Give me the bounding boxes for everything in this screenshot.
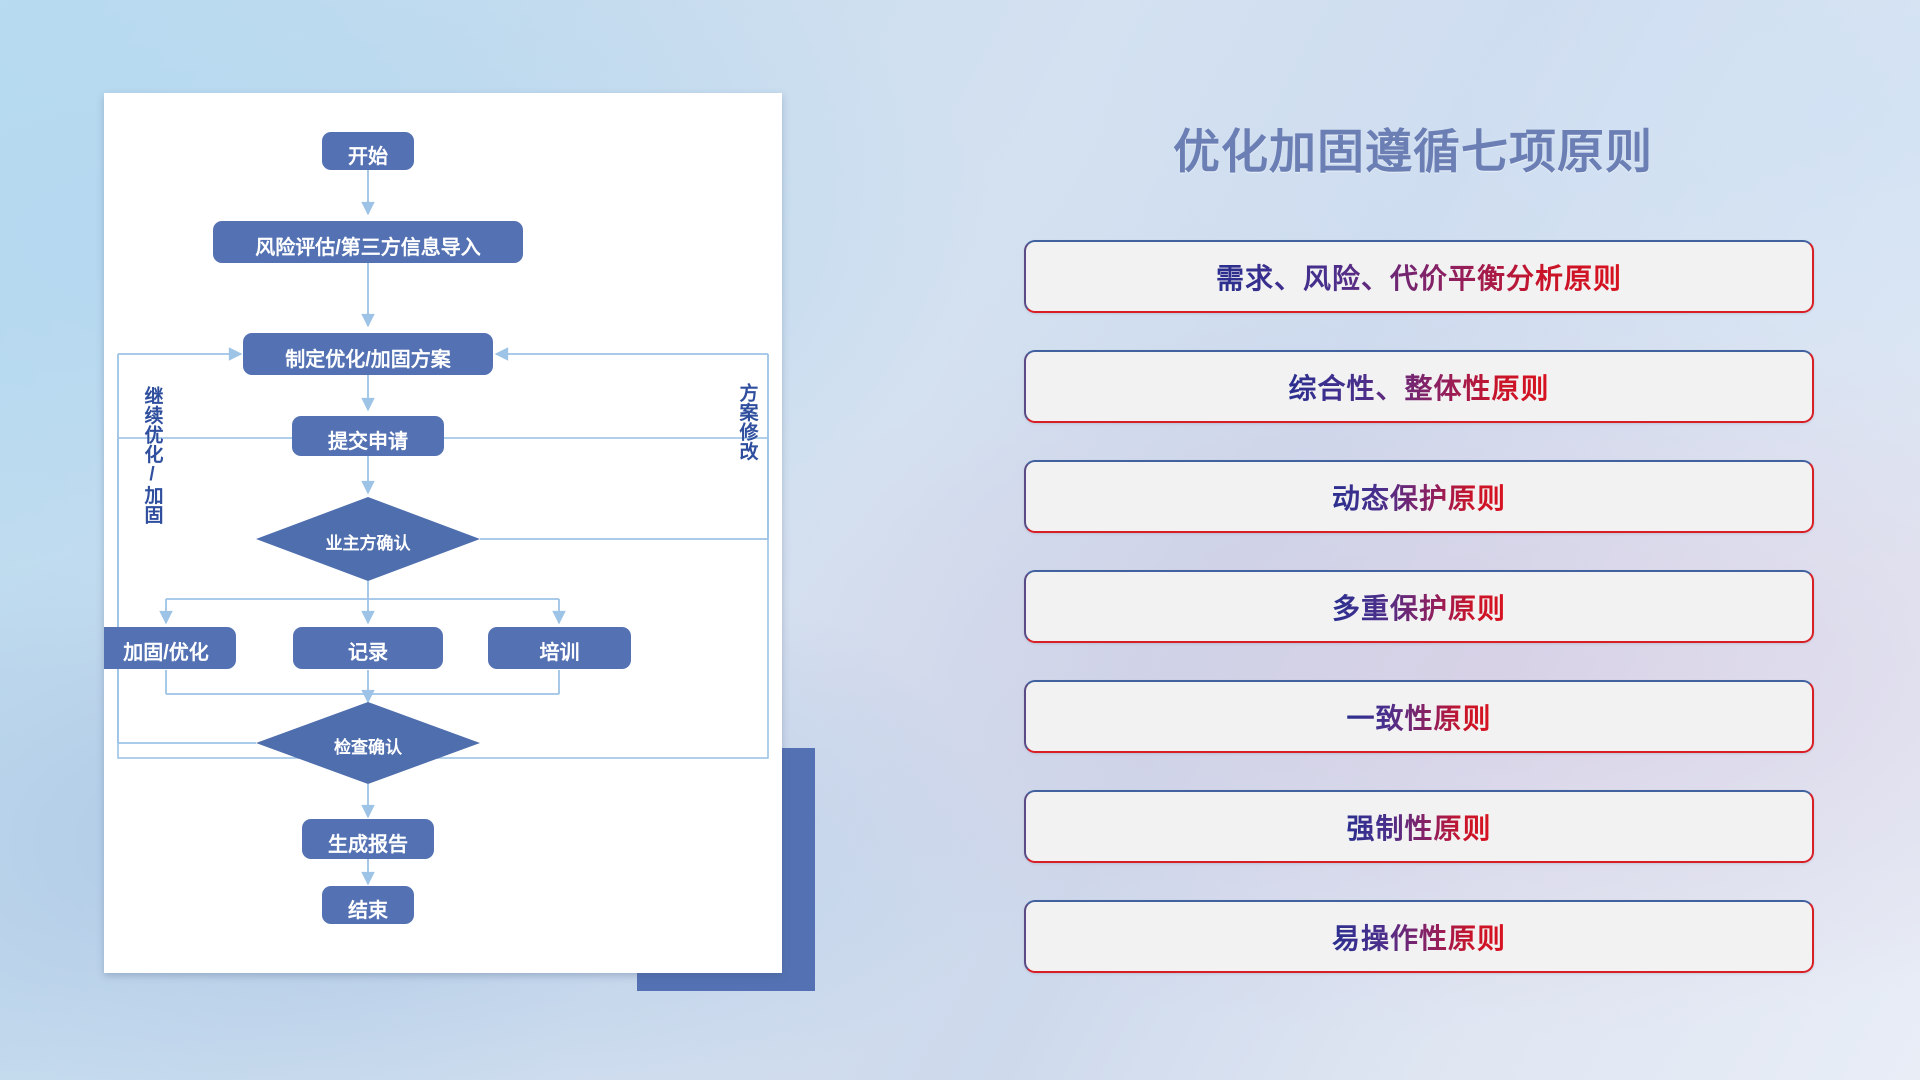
list-item[interactable]: 多重保护原则: [1024, 570, 1814, 643]
loop-region-outline: [118, 438, 768, 758]
principles-list: 需求、风险、代价平衡分析原则 综合性、整体性原则 动态保护原则 多重保护原则 一…: [1024, 240, 1814, 1010]
node-check-confirm: [256, 702, 480, 784]
loop-label-right: 方案修改: [736, 383, 757, 461]
flowchart-diagram: [104, 93, 782, 973]
node-training: [488, 627, 631, 669]
node-report: [302, 819, 434, 859]
page-title: 优化加固遵循七项原则: [1013, 113, 1813, 182]
list-item[interactable]: 需求、风险、代价平衡分析原则: [1024, 240, 1814, 313]
node-risk: [213, 221, 523, 263]
node-end: [322, 886, 414, 924]
principle-label: 多重保护原则: [1332, 587, 1506, 627]
list-item[interactable]: 动态保护原则: [1024, 460, 1814, 533]
list-item[interactable]: 易操作性原则: [1024, 900, 1814, 973]
list-item[interactable]: 一致性原则: [1024, 680, 1814, 753]
list-item[interactable]: 综合性、整体性原则: [1024, 350, 1814, 423]
node-start: [322, 132, 414, 170]
node-submit: [292, 416, 444, 456]
principle-label: 强制性原则: [1346, 807, 1491, 847]
principle-label: 需求、风险、代价平衡分析原则: [1216, 257, 1622, 297]
principle-label: 综合性、整体性原则: [1288, 367, 1549, 407]
principle-label: 易操作性原则: [1332, 917, 1506, 957]
principle-label: 一致性原则: [1346, 697, 1491, 737]
node-reinforce: [104, 627, 236, 669]
list-item[interactable]: 强制性原则: [1024, 790, 1814, 863]
loop-label-left: 继续优化/加固: [141, 386, 162, 525]
node-record: [293, 627, 443, 669]
node-owner-confirm: [256, 497, 480, 581]
node-plan: [243, 333, 493, 375]
slide-canvas: 开始 风险评估/第三方信息导入 制定优化/加固方案 提交申请 业主方确认 加固/…: [0, 0, 1920, 1080]
principle-label: 动态保护原则: [1332, 477, 1506, 517]
